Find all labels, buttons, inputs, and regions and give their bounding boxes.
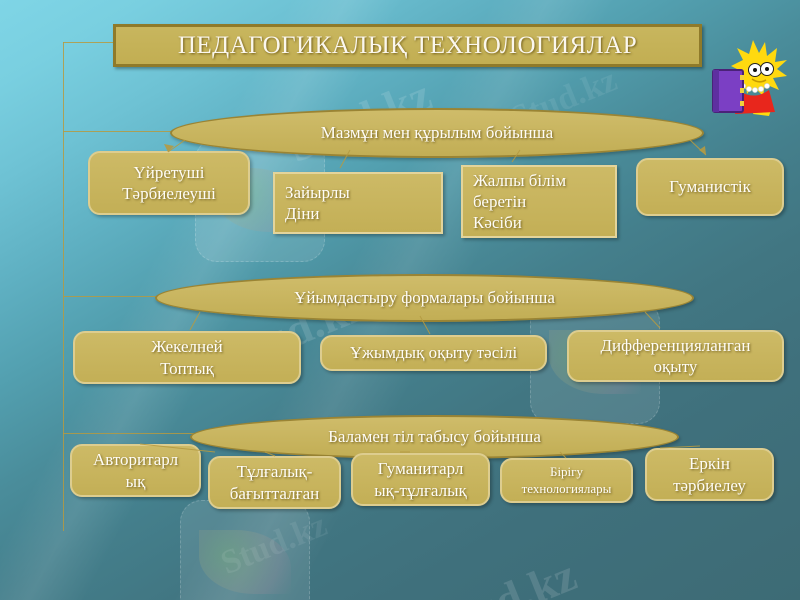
node-line: ық <box>82 471 189 492</box>
node-zaiyrly-dini[interactable]: Зайырлы Діни <box>273 172 443 234</box>
node-line: тәрбиелеу <box>657 475 762 496</box>
node-line: Жекелней <box>85 336 289 357</box>
slide-title: ПЕДАГОГИКАЛЫҚ ТЕХНОЛОГИЯЛАР <box>113 24 702 67</box>
node-line: ық-тұлғалық <box>363 480 478 501</box>
node-uiretushi-tarbieleushi[interactable]: Үйретуші Тәрбиелеуші <box>88 151 250 215</box>
node-line: Бірігу <box>512 464 621 480</box>
node-line: Ұжымдық оқыту тәсілі <box>332 342 535 363</box>
node-tulgalyk-bagyttalgan[interactable]: Тұлғалық- бағытталған <box>208 456 341 509</box>
node-line: Зайырлы <box>285 182 431 203</box>
node-line: Үйретуші <box>100 162 238 183</box>
leaf-watermark-2 <box>180 500 310 600</box>
node-line: бағытталған <box>220 483 329 504</box>
node-line: Тұлғалық- <box>220 461 329 482</box>
group-heading-3-text: Баламен тіл табысу бойынша <box>328 427 541 447</box>
node-line: Жалпы білім <box>473 170 605 191</box>
watermark-text-5: Stud.kz <box>216 506 333 583</box>
node-line: оқыту <box>579 356 772 377</box>
group-heading-2: Ұйымдастыру формалары бойынша <box>155 274 694 322</box>
node-line: Еркін <box>657 453 762 474</box>
node-line: беретін <box>473 191 605 212</box>
node-line: Кәсіби <box>473 212 605 233</box>
node-line: Топтық <box>85 358 289 379</box>
node-line: Тәрбиелеуші <box>100 183 238 204</box>
connector-trunk <box>63 42 64 531</box>
group-heading-1-text: Мазмұн мен құрылым бойынша <box>321 123 553 143</box>
group-heading-2-text: Ұйымдастыру формалары бойынша <box>294 288 555 308</box>
node-gumanistik[interactable]: Гуманистік <box>636 158 784 216</box>
lisa-simpson-icon <box>707 36 791 120</box>
node-differentsiyalangan-okytu[interactable]: Дифференцияланган оқыту <box>567 330 784 382</box>
node-uzhymdyk-okytu-tasili[interactable]: Ұжымдық оқыту тәсілі <box>320 335 547 371</box>
node-birigu-tekhnologiyalary[interactable]: Бірігу технологиялары <box>500 458 633 503</box>
group-heading-1: Мазмұн мен құрылым бойынша <box>170 108 704 158</box>
node-zhekelnei-toptyk[interactable]: Жекелней Топтық <box>73 331 301 384</box>
connector-branch-1 <box>63 42 117 43</box>
node-erkin-tarbieleu[interactable]: Еркін тәрбиелеу <box>645 448 774 501</box>
slide-canvas: Stud.kz Stud.kz Stud.kz Stud.kz Stud.kz … <box>0 0 800 600</box>
node-line: Діни <box>285 203 431 224</box>
node-line: технологиялары <box>512 481 621 497</box>
node-gumanitarlyk-tulgalyk[interactable]: Гуманитарл ық-тұлғалық <box>351 453 490 506</box>
node-line: Гуманистік <box>648 176 772 197</box>
node-line: Авторитарл <box>82 449 189 470</box>
node-line: Дифференцияланган <box>579 335 772 356</box>
slide-title-text: ПЕДАГОГИКАЛЫҚ ТЕХНОЛОГИЯЛАР <box>178 32 637 60</box>
node-avtoritarlyk[interactable]: Авторитарл ық <box>70 444 201 497</box>
watermark-text-3: Stud.kz <box>425 548 584 600</box>
node-line: Гуманитарл <box>363 458 478 479</box>
node-zhalpy-bilim-beretin-kasibi[interactable]: Жалпы білім беретін Кәсіби <box>461 165 617 238</box>
